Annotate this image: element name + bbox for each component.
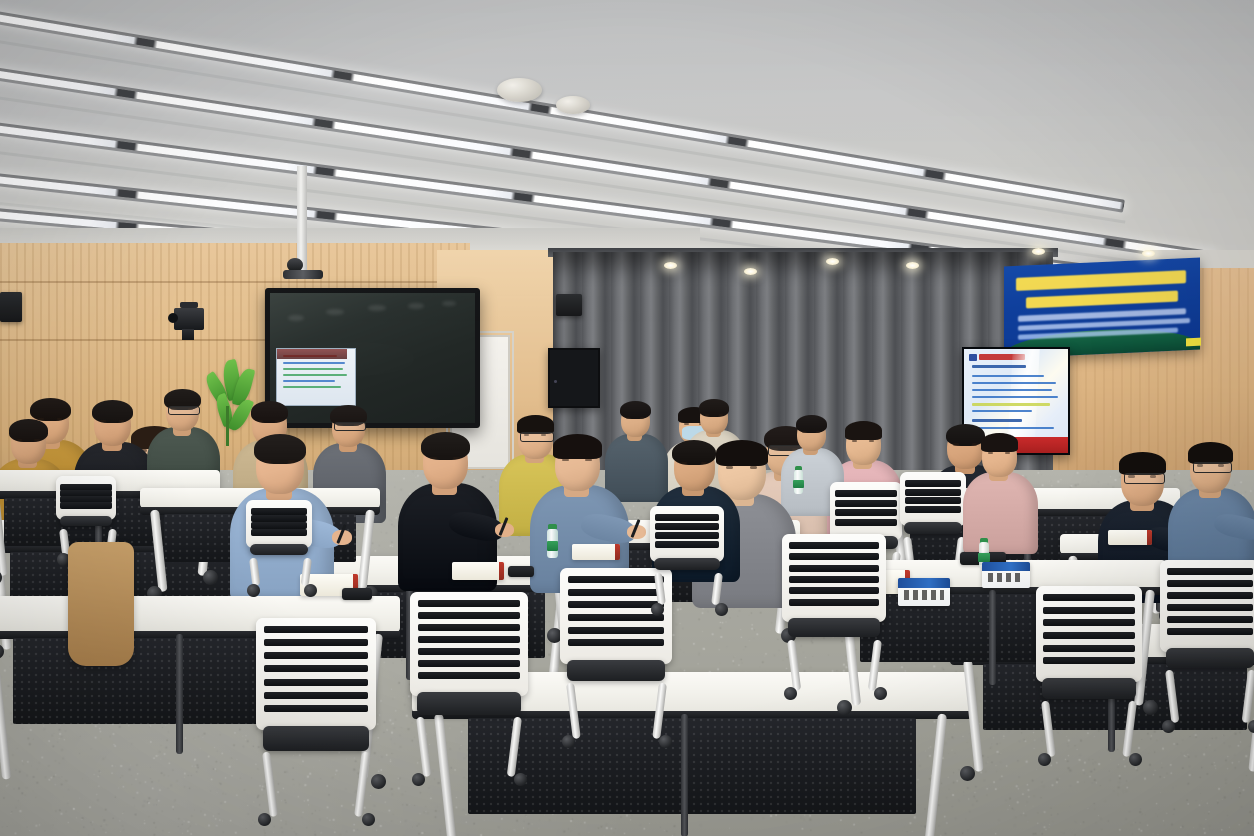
chair-front-b-slat-6 [418,660,519,667]
chair-mid-c[interactable] [650,506,724,562]
chair-front-a-caster-right [362,813,375,826]
chair-front-e-backrest [1160,560,1254,652]
chair-front-c-leg-right [652,683,667,739]
recessed-downlight-3 [826,258,839,265]
chair-front-b-slat-5 [418,648,519,655]
chair-back-b-seat [250,544,308,555]
chair-back-b-slat-1 [251,508,308,515]
chair-front-a-slat-6 [264,692,367,699]
chair-front-d[interactable] [782,534,886,622]
chair-front-d-slat-4 [789,576,878,583]
chair-front-f-caster-right [1129,753,1142,766]
chair-back-b[interactable] [246,500,312,548]
chair-back-b-caster-left [247,584,260,597]
chair-mid-c-caster-right [715,603,728,616]
chair-front-f-slat-1 [1043,594,1134,601]
chair-front-a-slat-4 [264,665,367,672]
chair-front-a-slat-1 [264,626,367,633]
chair-front-a-leg-right [354,752,370,817]
chair-front-f-slat-5 [1043,645,1134,652]
chair-front-b-caster-left [412,773,425,786]
chair-front-c-caster-left [562,735,575,748]
chair-front-e-slat-4 [1167,604,1253,611]
chair-back-b-leg-right [301,557,312,586]
chair-mid-c-backrest [650,506,724,562]
chair-front-b-leg-left [416,716,431,777]
chair-front-f-slat-4 [1043,632,1134,639]
chair-front-d-caster-right [874,687,887,700]
chair-mid-c-leg-right [711,573,723,606]
chair-front-a-seat [263,726,369,751]
chair-front-f[interactable] [1036,586,1142,682]
chair-front-d-slat-2 [789,553,878,560]
chair-mid-c-slat-3 [655,532,719,539]
chair-front-d-slat-6 [789,599,878,606]
recessed-downlight-5 [1032,248,1045,255]
chair-front-e-slat-6 [1167,628,1253,635]
recessed-downlight-4 [906,262,919,269]
chair-front-b[interactable] [410,592,528,696]
chair-front-a-leg-left [262,752,278,817]
chair-front-a-caster-left [258,813,271,826]
chair-front-e-seat [1166,648,1254,668]
chair-front-b-leg-right [507,716,522,777]
chair-front-b-backrest [410,592,528,696]
chair-front-f-caster-left [1038,753,1051,766]
chair-front-f-slat-3 [1043,619,1134,626]
chair-front-e-caster-right [1248,720,1254,733]
chair-front-d-leg-right [867,639,881,691]
chair-back-b-slat-3 [251,522,308,529]
chair-back-b-slat-4 [251,529,308,536]
chair-front-a-slat-7 [264,705,367,712]
chair-front-d-slat-3 [789,565,878,572]
chair-front-e-slat-1 [1167,568,1253,575]
chair-front-a-slat-3 [264,652,367,659]
chair-front-a-backrest [256,618,376,730]
chair-front-c-seat [567,660,666,681]
chair-mid-c-slat-2 [655,523,719,530]
chair-front-d-caster-left [784,687,797,700]
chair-front-c-slat-1 [568,576,664,583]
chair-front-d-seat [788,618,880,637]
chair-front-e-slat-3 [1167,592,1253,599]
chair-front-c-slat-5 [568,627,664,634]
chair-front-f-slat-2 [1043,607,1134,614]
chair-front-f-leg-right [1123,701,1138,757]
chair-mid-c-slat-1 [655,514,719,521]
chair-front-e-leg-left [1165,670,1179,724]
foreground-chairs [0,0,1254,836]
chair-front-e[interactable] [1160,560,1254,652]
chair-front-d-backrest [782,534,886,622]
chair-back-b-slat-2 [251,515,308,522]
chair-mid-c-seat [654,558,719,570]
chair-front-e-leg-right [1242,670,1254,724]
chair-front-c-slat-3 [568,601,664,608]
chair-front-b-seat [417,692,521,715]
chair-front-a-slat-2 [264,639,367,646]
chair-front-f-slat-6 [1043,657,1134,664]
chair-front-c-slat-2 [568,589,664,596]
chair-front-a-slat-5 [264,679,367,686]
recessed-downlight-2 [744,268,757,275]
chair-front-f-seat [1042,678,1135,699]
chair-front-f-backrest [1036,586,1142,682]
chair-mid-c-slat-4 [655,541,719,548]
chair-front-d-slat-1 [789,542,878,549]
chair-front-c-slat-6 [568,639,664,646]
chair-back-b-leg-left [249,557,260,586]
recessed-downlight-6 [1142,250,1155,257]
chair-front-b-slat-7 [418,672,519,679]
conference-room-photo [0,0,1254,836]
chair-front-d-slat-5 [789,587,878,594]
chair-front-b-caster-right [514,773,527,786]
chair-front-d-leg-left [787,639,801,691]
chair-back-b-backrest [246,500,312,548]
chair-front-c-slat-4 [568,614,664,621]
chair-back-b-caster-right [304,584,317,597]
recessed-downlight-1 [664,262,677,269]
chair-front-e-slat-5 [1167,616,1253,623]
chair-front-f-leg-left [1041,701,1056,757]
chair-front-c-caster-right [659,735,672,748]
chair-front-b-slat-3 [418,624,519,631]
chair-front-b-slat-1 [418,600,519,607]
chair-front-b-slat-4 [418,636,519,643]
chair-front-c-leg-left [566,683,581,739]
chair-front-a[interactable] [256,618,376,730]
chair-front-e-slat-2 [1167,580,1253,587]
chair-front-e-caster-left [1162,720,1175,733]
chair-front-b-slat-2 [418,612,519,619]
